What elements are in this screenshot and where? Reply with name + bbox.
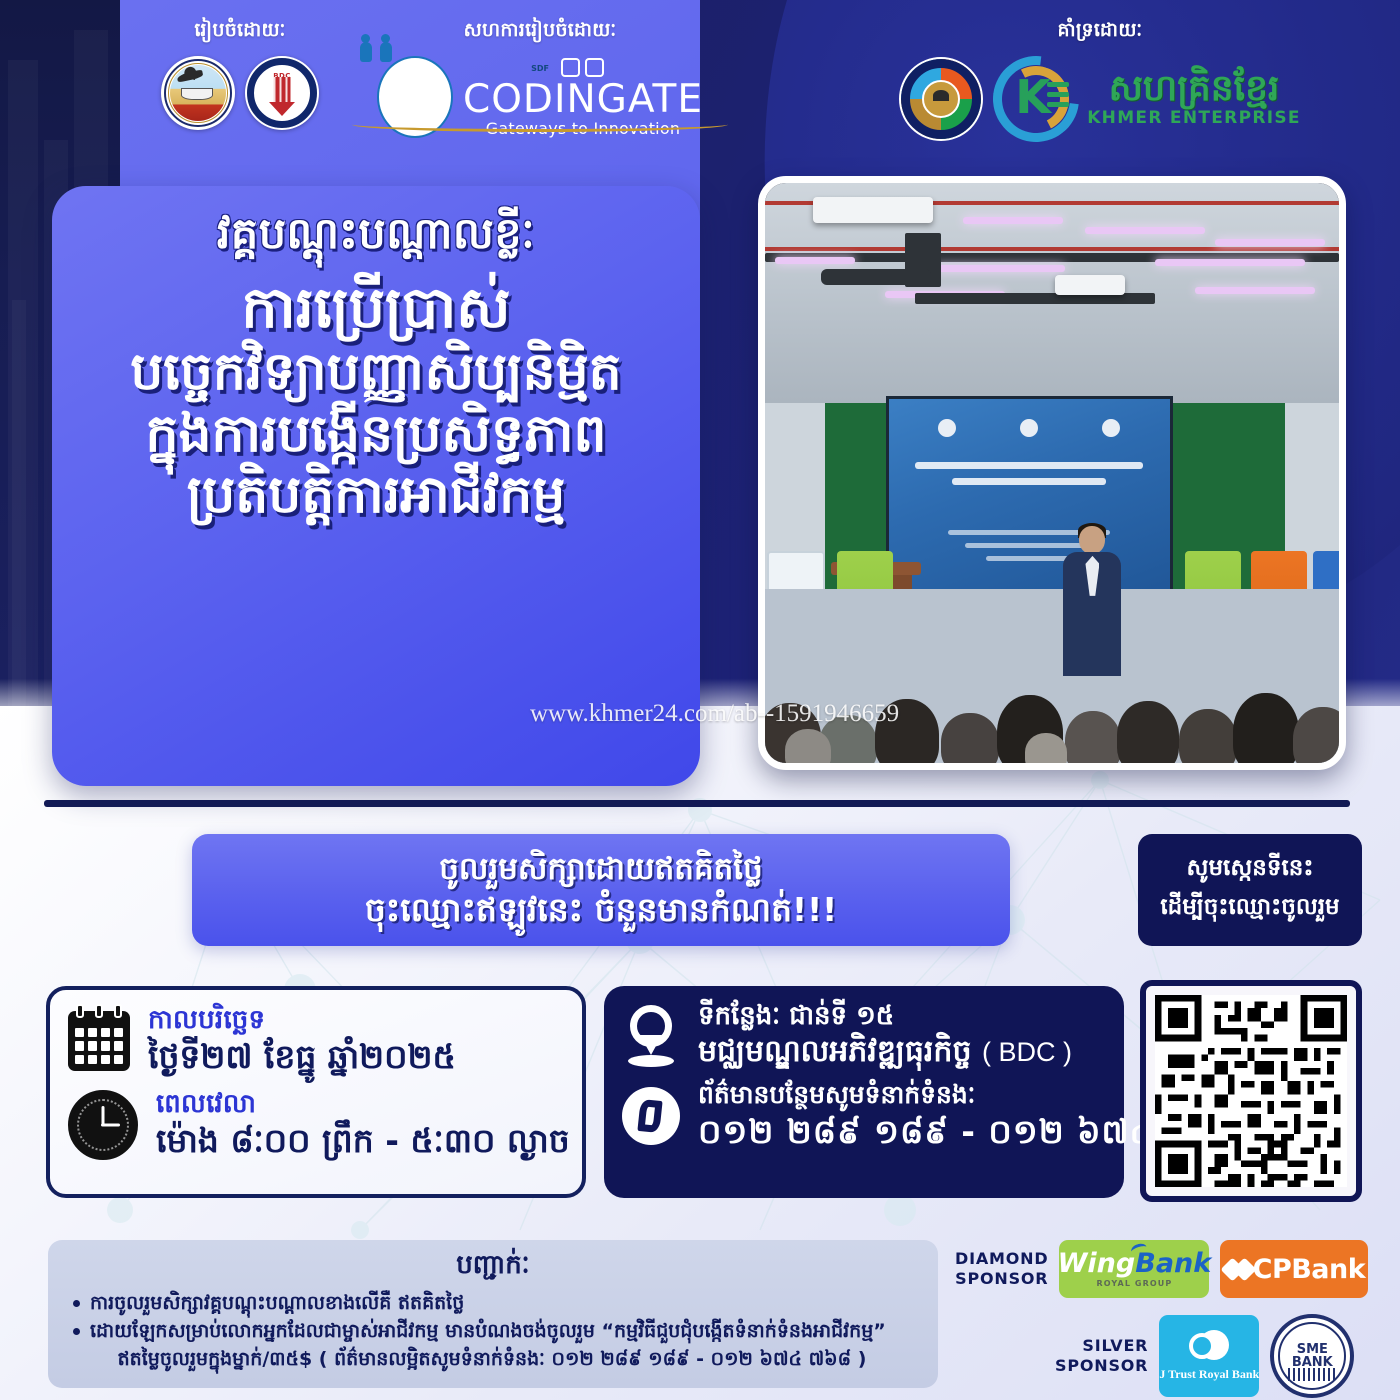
photo-speaker bbox=[1063, 526, 1121, 676]
time-row: ពេលវេលា ម៉ោង ៨ៈ០០ ព្រឹក - ៥ៈ៣០ ល្ងាច bbox=[68, 1090, 564, 1160]
coorganizer-logos: SDF CODINGATE Gateways to Innovation bbox=[340, 56, 740, 138]
date-value: ថ្ងៃទី២៧ ខែធ្នូ ឆ្នាំ២០២៥ bbox=[148, 1038, 456, 1076]
calendar-icon bbox=[68, 1011, 130, 1071]
photo-projection-screen bbox=[886, 396, 1173, 613]
event-photo bbox=[758, 176, 1346, 770]
sdf-seal-label: SDF bbox=[340, 64, 740, 73]
venue-line-2: មជ្ឈមណ្ឌលអភិវឌ្ឍធុរកិច្ច bbox=[698, 1034, 972, 1069]
jtrust-name: J Trust Royal Bank bbox=[1159, 1367, 1259, 1381]
time-value: ម៉ោង ៨ៈ០០ ព្រឹក - ៥ៈ៣០ ល្ងាច bbox=[156, 1122, 570, 1160]
photo-audience bbox=[765, 589, 1339, 763]
title-line-3: ក្នុងការបង្កើនប្រសិទ្ធភាព bbox=[52, 404, 700, 465]
photo-ceiling bbox=[765, 183, 1339, 415]
wing-subtitle: ROYAL GROUP bbox=[1097, 1279, 1173, 1288]
date-row: កាលបរិច្ឆេទ ថ្ងៃទី២៧ ខែធ្នូ ឆ្នាំ២០២៥ bbox=[68, 1006, 564, 1076]
qr-code-image bbox=[1155, 995, 1347, 1187]
jtrust-royal-bank-logo: J Trust Royal Bank bbox=[1159, 1315, 1259, 1397]
notes-heading: បញ្ជាក់ៈ bbox=[64, 1248, 922, 1286]
venue-row: ទីកន្លែងៈ ជាន់ទី ១៥ មជ្ឈមណ្ឌលអភិវឌ្ឍធុរក… bbox=[622, 1002, 1106, 1069]
promo-line-2: ចុះឈ្មោះឥឡូវនេះ ចំនួនមានកំណត់!!! bbox=[365, 889, 837, 930]
section-divider bbox=[44, 800, 1350, 807]
sme-bank-logo: SME BANK bbox=[1270, 1314, 1354, 1398]
wing-word-1: Wing bbox=[1058, 1248, 1136, 1279]
codingate-name: CODINGATE bbox=[463, 80, 703, 119]
title-line-4: ប្រតិបត្តិការអាជីវកម្ម bbox=[52, 465, 700, 526]
khmer-enterprise-logo: K សហគ្រិនខ្មែរ KHMER ENTERPRISE bbox=[993, 56, 1301, 142]
promo-banner: ចូលរួមសិក្សាដោយឥតគិតថ្លៃ ចុះឈ្មោះឥឡូវនេះ… bbox=[192, 834, 1010, 946]
time-label: ពេលវេលា bbox=[156, 1090, 570, 1120]
header-group-coorganizer: សហការរៀបចំដោយៈ SDF CODINGATE Gateways to… bbox=[340, 18, 740, 138]
diamond-sponsor-label: DIAMOND SPONSOR bbox=[955, 1249, 1048, 1289]
registration-qr-code[interactable] bbox=[1140, 980, 1362, 1202]
diamond-sponsor-row: DIAMOND SPONSOR WingBank ROYAL GROUP CPB… bbox=[955, 1240, 1368, 1298]
title-line-1: ការប្រើប្រាស់ bbox=[52, 275, 700, 342]
wing-word-2: Bank bbox=[1135, 1248, 1211, 1279]
phone-icon bbox=[622, 1087, 680, 1145]
clock-icon bbox=[68, 1090, 138, 1160]
jtrust-mark-icon bbox=[1189, 1330, 1229, 1364]
location-contact-card: ទីកន្លែងៈ ជាន់ទី ១៥ មជ្ឈមណ្ឌលអភិវឌ្ឍធុរក… bbox=[604, 986, 1124, 1198]
watermark-url: www.khmer24.com/ab--1591946659 bbox=[530, 700, 960, 728]
sponsors-section: DIAMOND SPONSOR WingBank ROYAL GROUP CPB… bbox=[955, 1238, 1385, 1393]
note-item-2: ដោយឡែកសម្រាប់លោកអ្នកដែលជាម្ចាស់អាជីវកម្ម… bbox=[90, 1318, 922, 1374]
title-line-2: បច្ចេកវិទ្យាបញ្ញាសិប្បនិម្មិត bbox=[52, 342, 700, 403]
cpbank-logo: CPBank bbox=[1220, 1240, 1368, 1298]
note-item-2-text: ដោយឡែកសម្រាប់លោកអ្នកដែលជាម្ចាស់អាជីវកម្ម… bbox=[90, 1320, 886, 1342]
supporter-logos: K សហគ្រិនខ្មែរ KHMER ENTERPRISE bbox=[860, 56, 1340, 142]
scan-line-2: ដើម្បីចុះឈ្មោះចូលរួម bbox=[1160, 893, 1339, 926]
header: រៀបចំដោយៈ BDC សហការរៀបចំដោយៈ SDF bbox=[0, 0, 1400, 175]
wing-bank-logo: WingBank ROYAL GROUP bbox=[1059, 1240, 1209, 1298]
scan-line-1: សូមស្កេនទីនេះ bbox=[1187, 854, 1314, 887]
ministry-of-commerce-seal-icon bbox=[161, 56, 235, 130]
silver-sponsor-row: SILVER SPONSOR J Trust Royal Bank SME BA… bbox=[1055, 1314, 1354, 1398]
poster-canvas: រៀបចំដោយៈ BDC សហការរៀបចំដោយៈ SDF bbox=[0, 0, 1400, 1400]
location-pin-icon bbox=[622, 1005, 680, 1067]
silver-sponsor-label: SILVER SPONSOR bbox=[1055, 1336, 1148, 1376]
header-group-supporter: គាំទ្រដោយៈ K សហគ្រិនខ្មែរ KHMER ENTERPRI… bbox=[860, 18, 1340, 142]
scan-instruction-box: សូមស្កេនទីនេះ ដើម្បីចុះឈ្មោះចូលរួម bbox=[1138, 834, 1362, 946]
ke-mark-icon: K bbox=[993, 56, 1079, 142]
note-item-2-sub: ឥតម្លៃចូលរួមក្នុងម្នាក់/៣៥$ ( ព័ត៌មានលម្… bbox=[90, 1346, 922, 1374]
coorganizer-caption: សហការរៀបចំដោយៈ bbox=[340, 18, 740, 46]
note-item-1: ការចូលរួមសិក្សាវគ្គបណ្ដុះបណ្ដាលខាងលើគឺ ឥ… bbox=[90, 1290, 922, 1318]
date-label: កាលបរិច្ឆេទ bbox=[148, 1006, 456, 1036]
notes-list: ការចូលរួមសិក្សាវគ្គបណ្ដុះបណ្ដាលខាងលើគឺ ឥ… bbox=[64, 1290, 922, 1374]
page-title: ការប្រើប្រាស់ បច្ចេកវិទ្យាបញ្ញាសិប្បនិម្… bbox=[52, 275, 700, 526]
venue-line-1: ទីកន្លែងៈ ជាន់ទី ១៥ bbox=[698, 1002, 1072, 1032]
bdc-seal-icon: BDC bbox=[245, 56, 319, 130]
title-eyebrow: វគ្គបណ្ដុះបណ្ដាលខ្លីៈ bbox=[217, 206, 535, 269]
venue-tag: ( BDC ) bbox=[982, 1037, 1072, 1067]
cpbank-name: CPBank bbox=[1253, 1254, 1366, 1285]
misti-seal-icon bbox=[899, 57, 983, 141]
sdf-seal-icon: SDF bbox=[377, 56, 453, 138]
title-card: វគ្គបណ្ដុះបណ្ដាលខ្លីៈ ការប្រើប្រាស់ បច្ច… bbox=[52, 186, 700, 786]
ke-khmer-name: សហគ្រិនខ្មែរ bbox=[1087, 71, 1301, 107]
promo-line-1: ចូលរួមសិក្សាដោយឥតគិតថ្លៃ bbox=[439, 850, 763, 889]
cpbank-diamond-icon bbox=[1224, 1261, 1248, 1278]
supporter-caption: គាំទ្រដោយៈ bbox=[860, 18, 1340, 46]
contact-row: ព័ត៌មានបន្ថែមសូមទំនាក់ទំនងៈ ០១២ ២៨៩ ១៨៩ … bbox=[622, 1081, 1106, 1151]
ke-english-name: KHMER ENTERPRISE bbox=[1087, 110, 1301, 127]
notes-panel: បញ្ជាក់ៈ ការចូលរួមសិក្សាវគ្គបណ្ដុះបណ្ដាល… bbox=[48, 1240, 938, 1388]
date-time-card: កាលបរិច្ឆេទ ថ្ងៃទី២៧ ខែធ្នូ ឆ្នាំ២០២៥ ពេ… bbox=[46, 986, 586, 1198]
